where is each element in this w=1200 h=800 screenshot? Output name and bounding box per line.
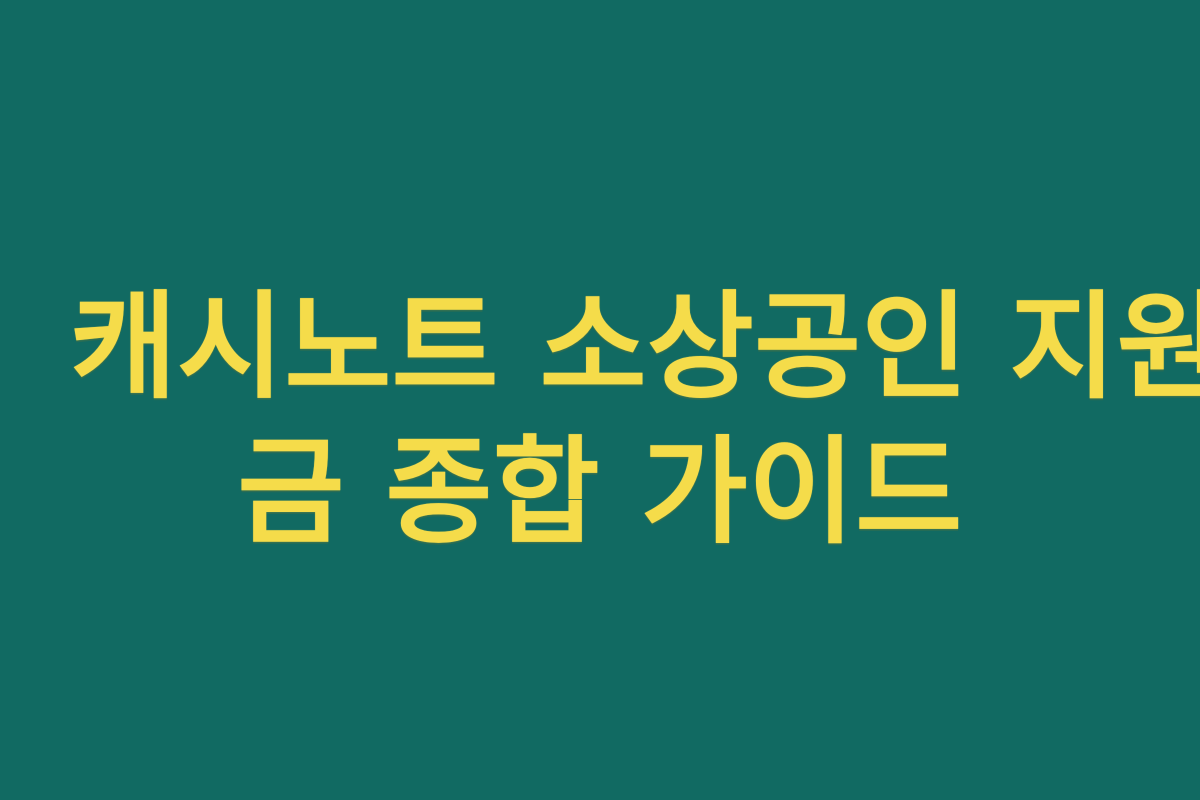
title-banner: 캐시노트 소상공인 지원 금 종합 가이드 bbox=[0, 0, 1200, 800]
banner-title-block: 캐시노트 소상공인 지원 금 종합 가이드 bbox=[70, 275, 1130, 565]
banner-title-line-1: 캐시노트 소상공인 지원 bbox=[70, 275, 1130, 420]
banner-title-line-2: 금 종합 가이드 bbox=[70, 420, 1130, 565]
